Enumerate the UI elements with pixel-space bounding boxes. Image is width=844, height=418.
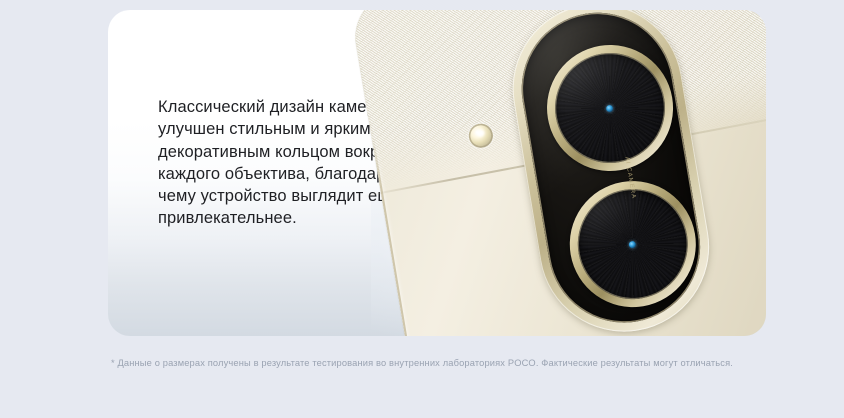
- footnote-disclaimer: * Данные о размерах получены в результат…: [0, 356, 844, 371]
- page-root: Классический дизайн камеры улучшен стиль…: [0, 0, 844, 418]
- secondary-lens-highlight: [628, 240, 636, 248]
- main-camera-lens: [537, 36, 682, 181]
- secondary-lens-glass: [569, 181, 696, 308]
- feature-card: Классический дизайн камеры улучшен стиль…: [108, 10, 766, 336]
- product-image-stage: AI CAMERA: [108, 10, 766, 336]
- main-lens-glass: [546, 45, 673, 172]
- phone-device-image: AI CAMERA: [349, 10, 766, 336]
- main-lens-highlight: [606, 104, 614, 112]
